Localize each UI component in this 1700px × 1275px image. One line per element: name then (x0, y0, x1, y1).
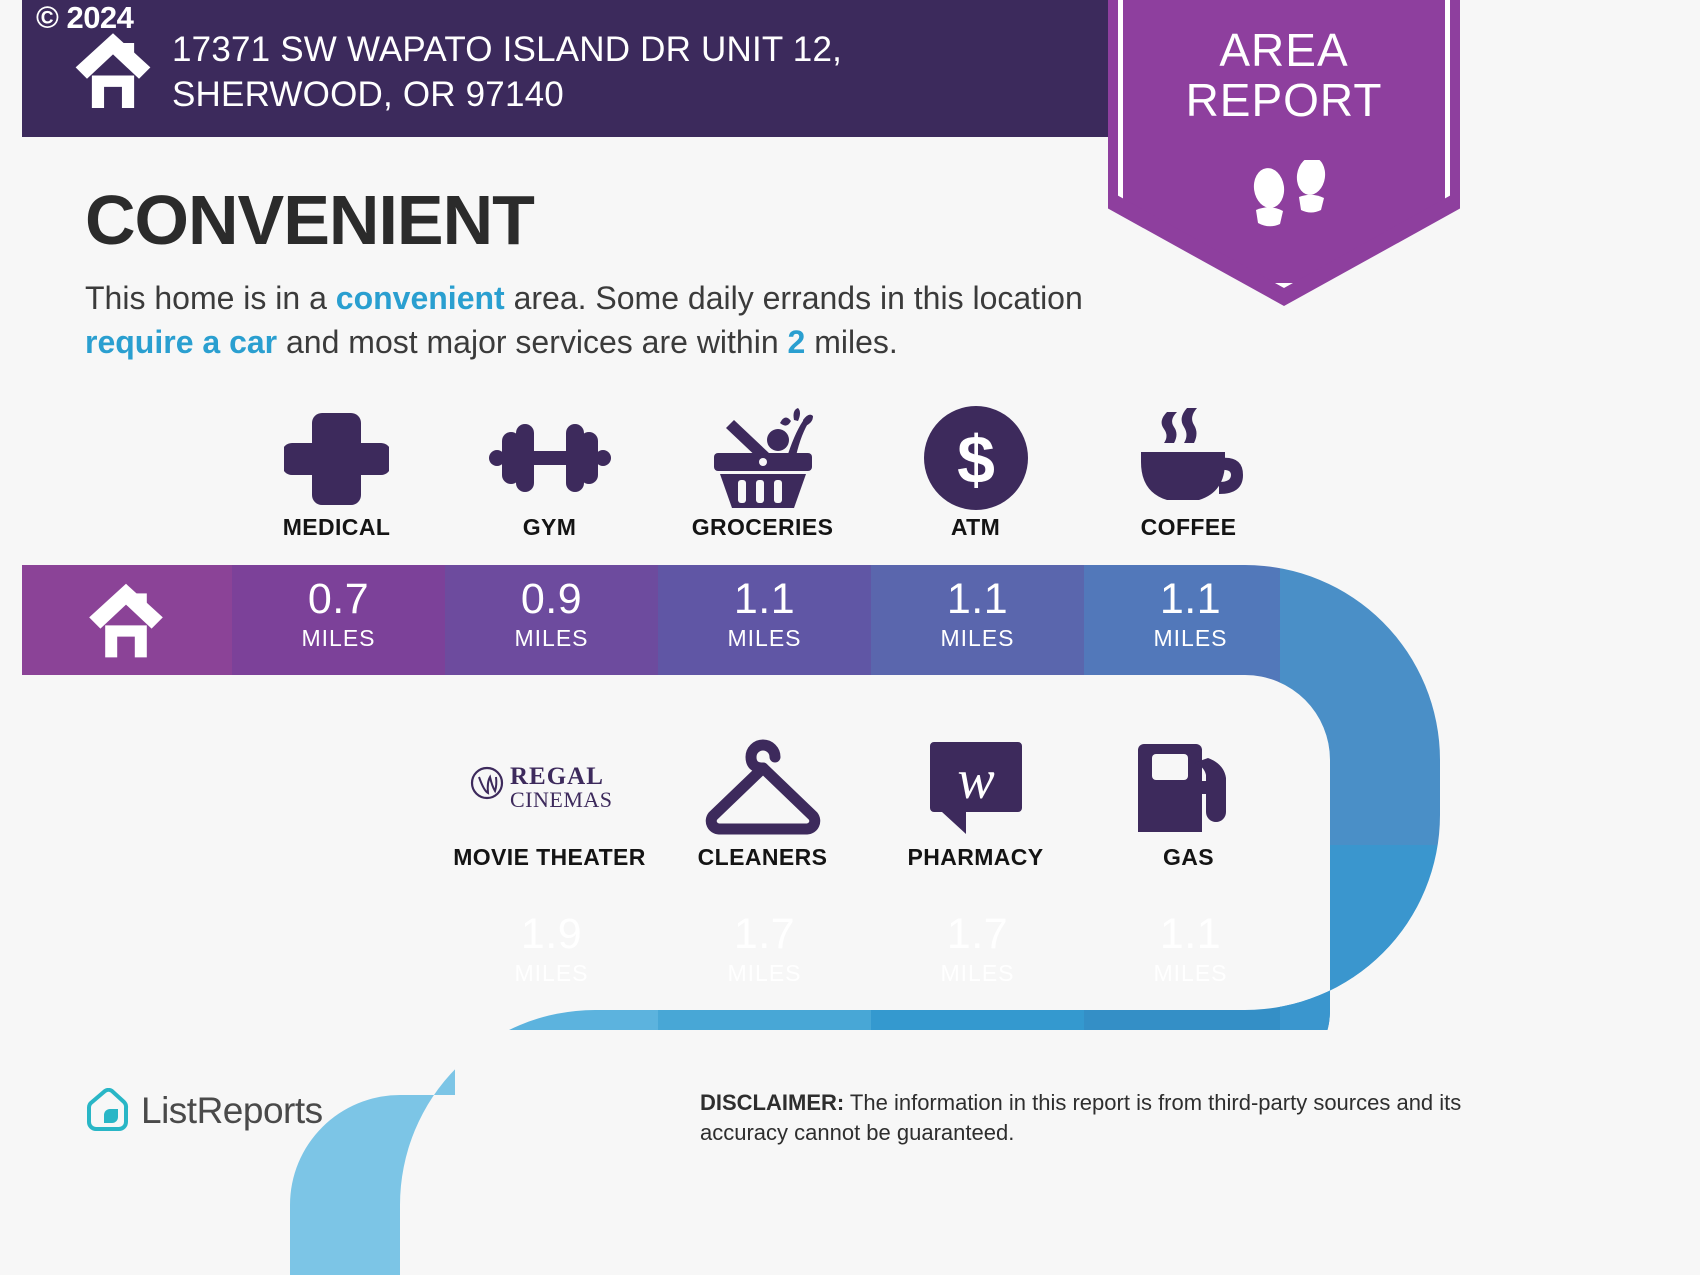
listreports-house-icon (85, 1088, 129, 1134)
distance-unit: MILES (871, 960, 1084, 987)
distance-unit: MILES (658, 625, 871, 652)
distance-cell-gym: 0.9 MILES (445, 565, 658, 675)
distance-cell-medical: 0.7 MILES (232, 565, 445, 675)
distance-value: 0.7 (232, 565, 445, 621)
amenity-pharmacy: w PHARMACY (869, 735, 1082, 890)
grocery-basket-icon (656, 405, 869, 510)
distance-cell-movie-theater: 1.9 MILES (445, 900, 658, 1010)
disclaimer: DISCLAIMER: The information in this repo… (700, 1088, 1490, 1149)
distance-cell-coffee: 1.1 MILES (1084, 565, 1297, 675)
amenity-icons-row-1: MEDICAL GYM (230, 405, 1300, 560)
medical-cross-icon (230, 405, 443, 510)
distance-value: 1.7 (658, 900, 871, 956)
svg-text:REGAL: REGAL (510, 763, 604, 790)
amenity-gas: GAS (1082, 735, 1295, 890)
amenity-label: ATM (869, 514, 1082, 541)
area-report-page: © 2024 17371 SW WAPATO ISLAND DR UNIT 12… (0, 0, 1700, 1275)
distance-unit: MILES (871, 625, 1084, 652)
amenity-label: COFFEE (1082, 514, 1295, 541)
svg-text:$: $ (957, 422, 995, 498)
distance-value: 1.1 (658, 565, 871, 621)
distance-unit: MILES (1084, 625, 1297, 652)
distance-row-1: 0.7 MILES 0.9 MILES 1.1 MILES 1.1 MILES … (0, 565, 1440, 675)
disclaimer-label: DISCLAIMER: (700, 1090, 844, 1115)
amenity-movie-theater: REGAL CINEMAS MOVIE THEATER (443, 735, 656, 890)
distance-unit: MILES (445, 625, 658, 652)
footprints-icon (1245, 160, 1335, 236)
distance-unit: MILES (232, 625, 445, 652)
amenity-label: MEDICAL (230, 514, 443, 541)
listreports-wordmark: ListReports (141, 1090, 323, 1132)
distance-unit: MILES (1084, 960, 1297, 987)
badge-line-2: REPORT (1108, 76, 1460, 126)
distance-cell-gas: 1.1 MILES (1084, 900, 1297, 1010)
amenity-label: GAS (1082, 844, 1295, 871)
amenity-groceries: GROCERIES (656, 405, 869, 560)
regal-cinemas-logo: REGAL CINEMAS (443, 735, 656, 840)
distance-cell-groceries: 1.1 MILES (658, 565, 871, 675)
amenity-label: PHARMACY (869, 844, 1082, 871)
hanger-icon (656, 735, 869, 840)
listreports-logo: ListReports (85, 1085, 345, 1137)
distance-cell-cleaners: 1.7 MILES (658, 900, 871, 1010)
distance-value: 0.9 (445, 565, 658, 621)
dumbbell-icon (443, 405, 656, 510)
distance-value: 1.1 (871, 565, 1084, 621)
distance-value: 1.7 (871, 900, 1084, 956)
distance-unit: MILES (658, 960, 871, 987)
amenity-coffee: COFFEE (1082, 405, 1295, 560)
amenity-label: CLEANERS (656, 844, 869, 871)
amenity-icons-row-2: REGAL CINEMAS MOVIE THEATER CLEANERS w (443, 735, 1300, 885)
amenity-cleaners: CLEANERS (656, 735, 869, 890)
svg-text:w: w (957, 749, 994, 811)
amenity-medical: MEDICAL (230, 405, 443, 560)
svg-text:CINEMAS: CINEMAS (510, 787, 613, 812)
copyright-label: © 2024 (36, 2, 133, 33)
badge-title: AREA REPORT (1108, 26, 1460, 125)
amenity-label: MOVIE THEATER (443, 844, 656, 871)
badge-line-1: AREA (1108, 26, 1460, 76)
distance-cell-atm: 1.1 MILES (871, 565, 1084, 675)
home-icon (86, 580, 166, 658)
distance-value: 1.1 (1084, 565, 1297, 621)
amenity-label: GROCERIES (656, 514, 869, 541)
distance-row-2: 1.9 MILES 1.7 MILES 1.7 MILES 1.1 MILES (0, 900, 1460, 1010)
gas-pump-icon (1082, 735, 1295, 840)
dollar-circle-icon: $ (869, 405, 1082, 510)
distance-unit: MILES (445, 960, 658, 987)
distance-value: 1.1 (1084, 900, 1297, 956)
distance-cell-pharmacy: 1.7 MILES (871, 900, 1084, 1010)
distance-value: 1.9 (445, 900, 658, 956)
amenity-gym: GYM (443, 405, 656, 560)
amenity-label: GYM (443, 514, 656, 541)
coffee-cup-icon (1082, 405, 1295, 510)
walgreens-logo: w (869, 735, 1082, 840)
amenity-atm: $ ATM (869, 405, 1082, 560)
